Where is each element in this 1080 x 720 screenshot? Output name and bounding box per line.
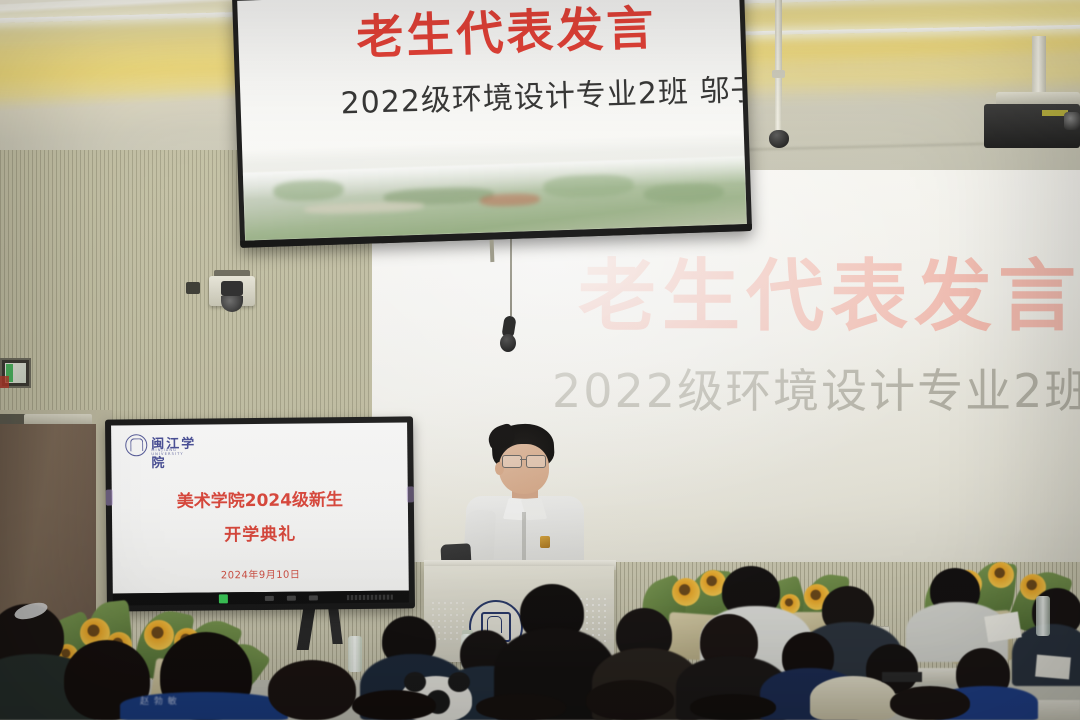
overhead-display-mount	[490, 240, 495, 262]
device-on-desk	[882, 672, 922, 682]
tv-button-2[interactable]	[287, 596, 296, 601]
left-tv-date: 2024年9月10日	[113, 564, 409, 582]
list-item	[268, 660, 356, 720]
ceiling-pole-band	[772, 70, 785, 78]
overhead-subtitle: 2022级环境设计专业2班 邬子洋	[340, 76, 741, 119]
wall-camera-lens	[221, 281, 243, 296]
overhead-display: 老生代表发言 2022级环境设计专业2班 邬子洋	[232, 0, 752, 248]
water-bottle-audience	[348, 636, 362, 672]
tv-side-trim-right	[407, 486, 414, 502]
glasses-lens-left	[502, 455, 522, 468]
panda-hat-ear-left	[404, 672, 426, 692]
speaker-face	[499, 444, 549, 494]
panda-hat-ear-right	[448, 672, 470, 692]
list-item	[352, 690, 436, 720]
projector-lens-icon	[1064, 112, 1080, 130]
overhead-title: 老生代表发言	[356, 2, 737, 62]
speaker-badge	[540, 536, 550, 548]
water-bottle-audience-2	[1036, 596, 1050, 636]
tv-button-1[interactable]	[265, 596, 274, 601]
left-tv-line-2: 开学典礼	[112, 518, 408, 546]
glasses-bridge	[520, 459, 526, 460]
tv-speaker-grille	[347, 595, 393, 600]
dome-camera-icon	[769, 130, 789, 148]
ceiling-camera-pole	[775, 0, 782, 132]
left-tv-screen: 闽江学院 MINJIANG UNIVERSITY 美术学院2024级新生 开学典…	[111, 422, 409, 593]
list-item	[586, 680, 674, 720]
wall-sensor	[186, 282, 200, 294]
left-tv-line-1: 美术学院2024级新生	[112, 484, 408, 512]
overhead-display-screen: 老生代表发言 2022级环境设计专业2班 邬子洋	[237, 0, 747, 241]
microphone-capsule	[500, 334, 516, 352]
speaker-shirt-placket	[522, 512, 526, 560]
projection-subtitle: 2022级环境设计专业2班	[552, 368, 1080, 414]
team-shirt-text: 赵 勃 敏	[140, 694, 204, 714]
left-smart-tv: 闽江学院 MINJIANG UNIVERSITY 美术学院2024级新生 开学典…	[105, 416, 415, 611]
projection-title: 老生代表发言	[578, 258, 1080, 336]
logo-inner-mark-icon	[130, 438, 143, 451]
list-item	[890, 686, 970, 720]
university-logo: 闽江学院 MINJIANG UNIVERSITY	[125, 433, 209, 456]
list-item	[476, 694, 566, 720]
glasses-lens-right	[526, 455, 546, 468]
paper-sheet	[984, 612, 1022, 643]
bucket-hat	[810, 676, 896, 720]
photograph-scene: 老生代表发言 2022级环境设计专业2班	[0, 0, 1080, 720]
tv-side-trim-left	[106, 490, 113, 506]
speaker-glasses-icon	[502, 455, 548, 466]
projector-pole	[1032, 36, 1046, 98]
paper-sheet-2	[1035, 655, 1071, 680]
tv-button-3[interactable]	[309, 595, 318, 600]
exit-sign-red-lamp	[0, 376, 9, 388]
logo-english-name: MINJIANG UNIVERSITY	[151, 448, 209, 457]
list-item	[690, 694, 776, 720]
